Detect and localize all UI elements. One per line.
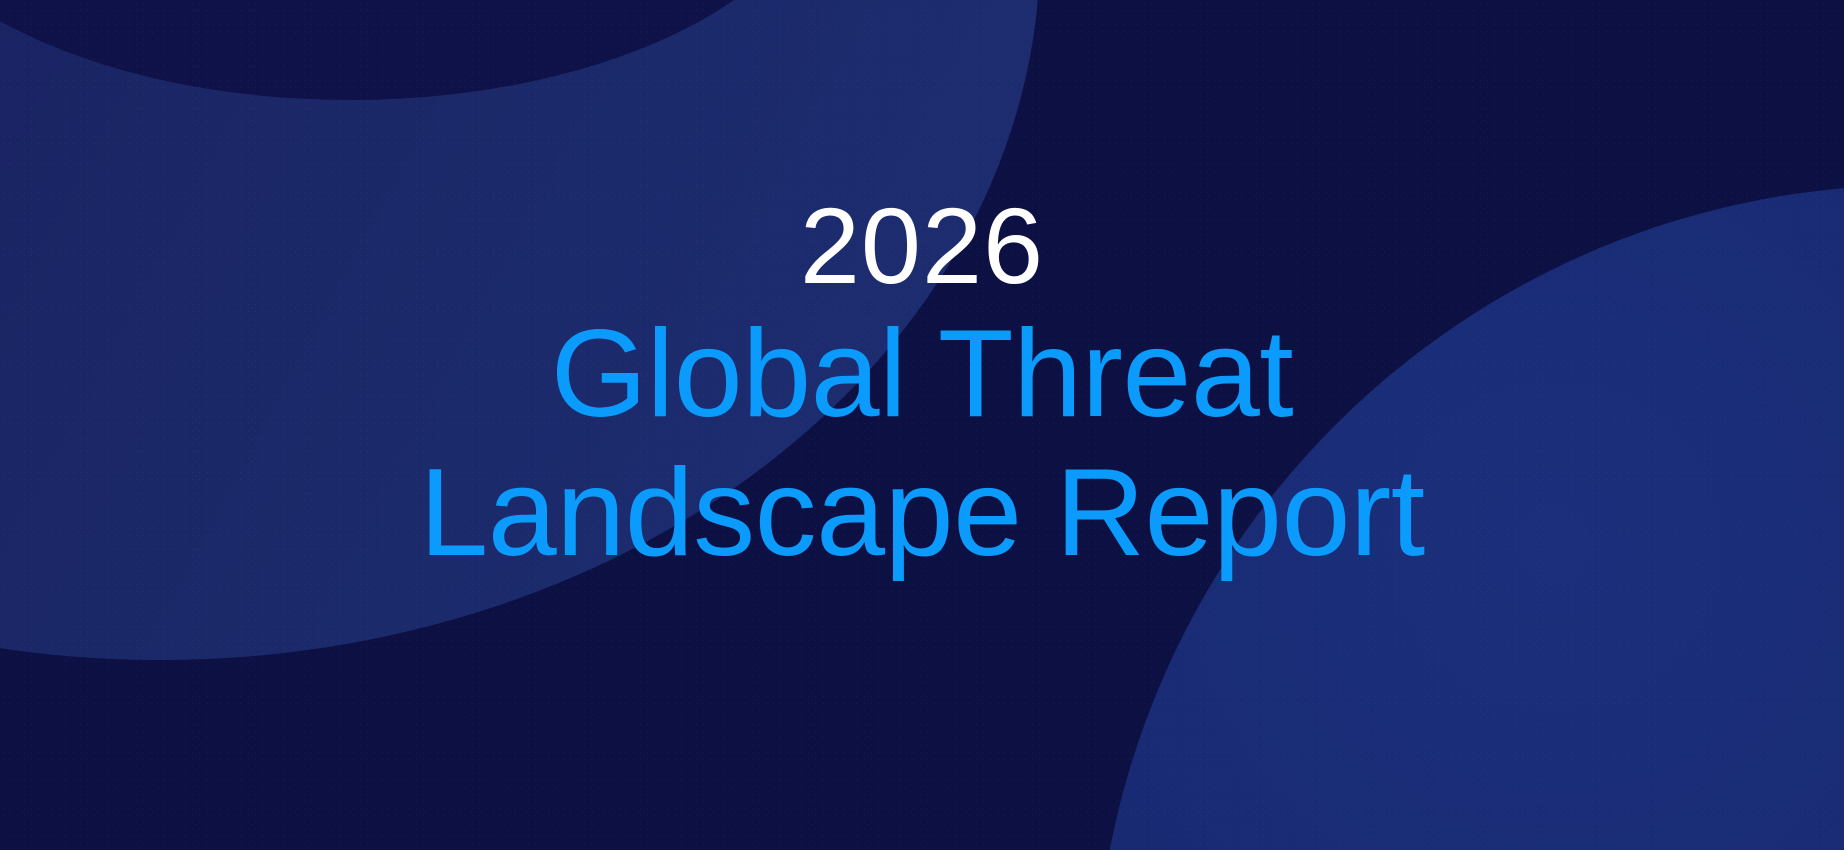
cover-title-line-2: Landscape Report (419, 444, 1424, 583)
cover-title-line-1: Global Threat (419, 305, 1424, 444)
cover-title-year: 2026 (419, 191, 1424, 301)
cover-title-block: 2026 Global Threat Landscape Report (0, 0, 1844, 850)
cover-title-inner: 2026 Global Threat Landscape Report (419, 191, 1424, 583)
report-cover: 2026 Global Threat Landscape Report (0, 0, 1844, 850)
cover-title-main: Global Threat Landscape Report (419, 305, 1424, 583)
